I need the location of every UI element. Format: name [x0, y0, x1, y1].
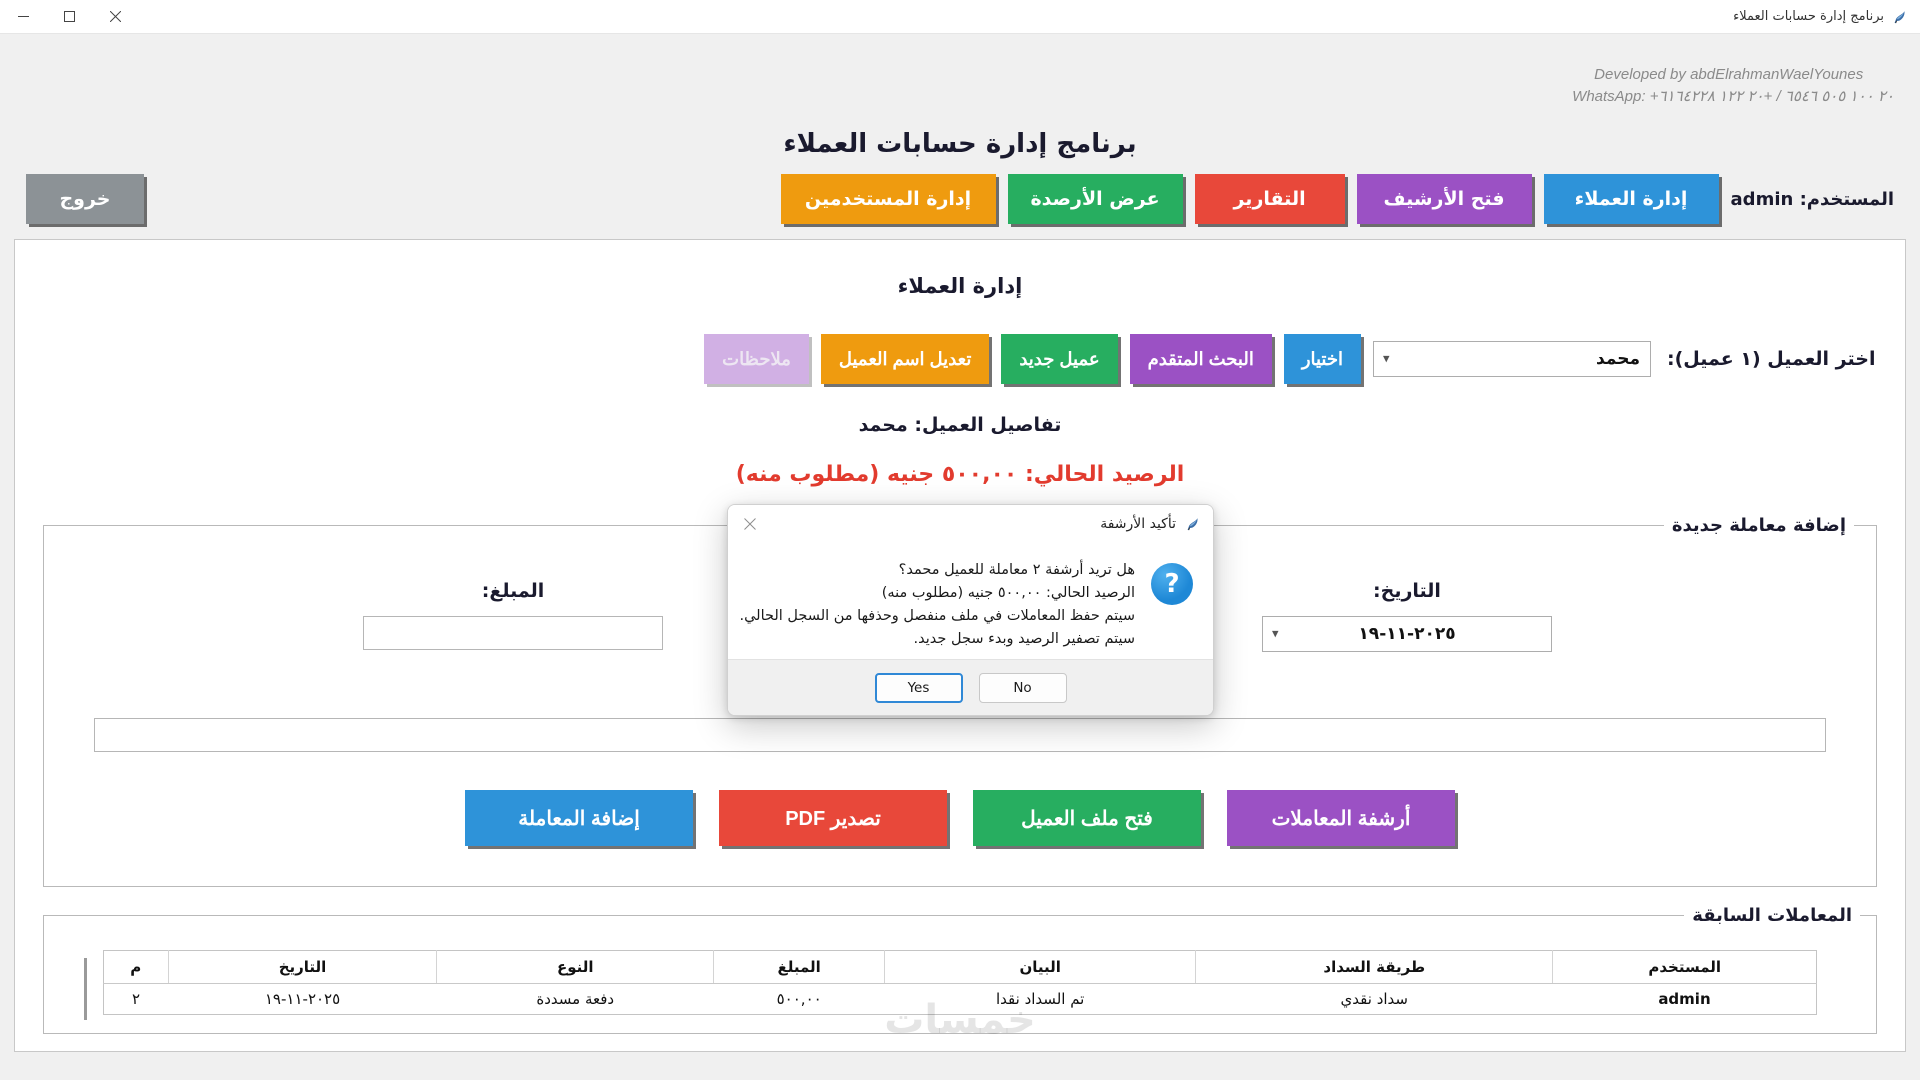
date-value: ٢٠٢٥-١١-١٩ [1358, 624, 1455, 644]
dialog-yes-button[interactable]: Yes [875, 673, 963, 703]
table-scrollbar[interactable] [84, 958, 87, 1020]
col-index[interactable]: م [104, 951, 169, 984]
col-payment-method[interactable]: طريقة السداد [1196, 951, 1553, 984]
dialog-footer: Yes No [728, 659, 1213, 715]
dialog-message-line-1: هل تريد أرشفة ٢ معاملة للعميل محمد؟ [739, 559, 1135, 582]
close-icon[interactable] [92, 0, 138, 34]
window-titlebar: برنامج إدارة حسابات العملاء [0, 0, 1920, 34]
dialog-message: هل تريد أرشفة ٢ معاملة للعميل محمد؟ الرص… [739, 559, 1135, 651]
nav-button-manage-clients[interactable]: إدارة العملاء [1544, 174, 1719, 224]
client-select-label: اختر العميل (١ عميل): [1667, 348, 1877, 370]
col-date[interactable]: التاريخ [168, 951, 437, 984]
advanced-search-button[interactable]: البحث المتقدم [1130, 334, 1272, 384]
select-client-button[interactable]: اختيار [1284, 334, 1361, 384]
cell-description: تم السداد نقدا [885, 984, 1196, 1015]
date-combobox[interactable]: ٢٠٢٥-١١-١٩ ▾ [1262, 616, 1552, 652]
dialog-message-line-2: الرصيد الحالي: ٥٠٠,٠٠ جنيه (مطلوب منه) [739, 582, 1135, 605]
nav-button-manage-users[interactable]: إدارة المستخدمين [781, 174, 996, 224]
export-pdf-button[interactable]: تصدير PDF [719, 790, 947, 846]
page-title: برنامج إدارة حسابات العملاء [0, 129, 1920, 159]
dialog-body: ? هل تريد أرشفة ٢ معاملة للعميل محمد؟ ال… [728, 543, 1213, 657]
client-selector-row: اختر العميل (١ عميل): محمد ▾ اختيار البح… [15, 334, 1905, 384]
amount-input[interactable] [363, 616, 663, 650]
cell-user: admin [1553, 984, 1817, 1015]
nav-button-reports[interactable]: التقارير [1195, 174, 1345, 224]
application-root: Developed by abdElrahmanWaelYounes Whats… [0, 34, 1920, 1080]
col-type[interactable]: النوع [437, 951, 714, 984]
panel-title: إدارة العملاء [15, 274, 1905, 298]
previous-transactions-group: المعاملات السابقة المستخدم طريقة السداد … [43, 905, 1877, 1034]
transaction-actions-row: أرشفة المعاملات فتح ملف العميل تصدير PDF… [66, 790, 1854, 846]
archive-transactions-button[interactable]: أرشفة المعاملات [1227, 790, 1455, 846]
cell-payment-method: سداد نقدي [1196, 984, 1553, 1015]
close-icon[interactable] [734, 510, 766, 538]
question-icon: ? [1151, 563, 1193, 605]
new-transaction-legend: إضافة معاملة جديدة [1664, 515, 1854, 536]
notes-button[interactable]: ملاحظات [704, 334, 809, 384]
previous-transactions-legend: المعاملات السابقة [1684, 905, 1860, 926]
developer-whatsapp: WhatsApp: +٢٠ ١٠٠ ٥٠٥ ٦٥٤٦ / +٢٠ ١٢٢ ٦١٦… [1572, 86, 1894, 108]
add-transaction-button[interactable]: إضافة المعاملة [465, 790, 693, 846]
feather-icon [1892, 9, 1908, 25]
col-amount[interactable]: المبلغ [714, 951, 885, 984]
dialog-titlebar: تأكيد الأرشفة [728, 505, 1213, 543]
nav-button-exit[interactable]: خروج [26, 174, 144, 224]
window-controls [0, 0, 138, 34]
nav-button-show-balances[interactable]: عرض الأرصدة [1008, 174, 1183, 224]
chevron-down-icon: ▾ [1272, 627, 1279, 642]
minimize-icon[interactable] [0, 0, 46, 34]
edit-client-name-button[interactable]: تعديل اسم العميل [821, 334, 990, 384]
window-title-text: برنامج إدارة حسابات العملاء [1733, 9, 1884, 24]
amount-label: المبلغ: [482, 580, 544, 602]
table-row[interactable]: admin سداد نقدي تم السداد نقدا ٥٠٠,٠٠ دف… [104, 984, 1817, 1015]
dialog-no-button[interactable]: No [979, 673, 1067, 703]
col-description[interactable]: البيان [885, 951, 1196, 984]
dialog-message-line-3: سيتم حفظ المعاملات في ملف منفصل وحذفها م… [739, 605, 1135, 628]
cell-date: ٢٠٢٥-١١-١٩ [168, 984, 437, 1015]
dialog-title: تأكيد الأرشفة [1100, 516, 1176, 532]
current-user-label: المستخدم: admin [1731, 189, 1894, 210]
window-title-group: برنامج إدارة حسابات العملاء [1733, 9, 1920, 25]
nav-button-open-archive[interactable]: فتح الأرشيف [1357, 174, 1532, 224]
client-details-line: تفاصيل العميل: محمد [15, 414, 1905, 436]
dialog-message-line-4: سيتم تصفير الرصيد وبدء سجل جديد. [739, 628, 1135, 651]
developer-credit: Developed by abdElrahmanWaelYounes Whats… [1572, 64, 1894, 108]
cell-amount: ٥٠٠,٠٠ [714, 984, 885, 1015]
archive-confirm-dialog: تأكيد الأرشفة ? هل تريد أرشفة ٢ معاملة ل… [727, 504, 1214, 716]
feather-icon [1185, 516, 1201, 532]
developer-name: Developed by abdElrahmanWaelYounes [1572, 64, 1894, 86]
client-select-combobox[interactable]: محمد ▾ [1373, 341, 1651, 377]
cell-type: دفعة مسددة [437, 984, 714, 1015]
new-client-button[interactable]: عميل جديد [1001, 334, 1117, 384]
transactions-table-wrap: المستخدم طريقة السداد البيان المبلغ النو… [60, 950, 1860, 1015]
current-balance-line: الرصيد الحالي: ٥٠٠,٠٠ جنيه (مطلوب منه) [15, 462, 1905, 487]
open-client-file-button[interactable]: فتح ملف العميل [973, 790, 1201, 846]
transactions-table: المستخدم طريقة السداد البيان المبلغ النو… [103, 950, 1817, 1015]
client-select-value: محمد [1596, 349, 1640, 369]
chevron-down-icon: ▾ [1383, 352, 1390, 367]
main-navbar: المستخدم: admin إدارة العملاء فتح الأرشي… [0, 170, 1920, 228]
date-label: التاريخ: [1373, 580, 1441, 602]
col-user[interactable]: المستخدم [1553, 951, 1817, 984]
cell-index: ٢ [104, 984, 169, 1015]
maximize-icon[interactable] [46, 0, 92, 34]
description-input[interactable] [94, 718, 1826, 752]
table-header-row: المستخدم طريقة السداد البيان المبلغ النو… [104, 951, 1817, 984]
